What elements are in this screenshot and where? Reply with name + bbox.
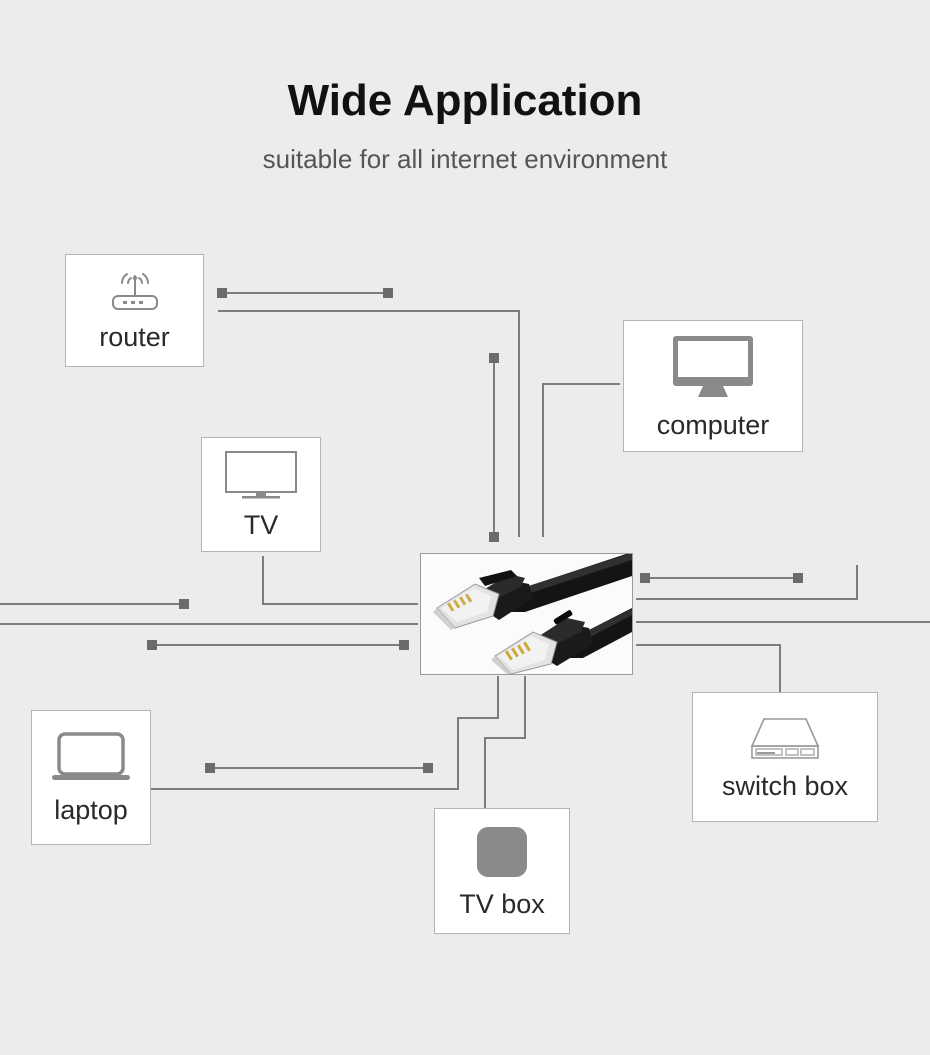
laptop-icon (48, 731, 134, 787)
television-icon (224, 450, 298, 500)
device-label-tvbox: TV box (459, 891, 545, 918)
device-label-laptop: laptop (54, 797, 128, 824)
device-label-tv: TV (244, 512, 279, 539)
line-switch-to-hub (636, 645, 780, 692)
line-tv-to-hub (263, 556, 418, 604)
device-card-laptop[interactable]: laptop (31, 710, 151, 845)
device-card-computer[interactable]: computer (623, 320, 803, 452)
device-card-tvbox[interactable]: TV box (434, 808, 570, 934)
line-computer-to-hub (543, 384, 620, 537)
line-tvbox-to-hub (485, 676, 525, 808)
device-label-computer: computer (657, 412, 770, 439)
device-card-switch[interactable]: switch box (692, 692, 878, 822)
wifi-router-icon (102, 270, 168, 314)
tv-box-icon (475, 825, 529, 879)
device-card-tv[interactable]: TV (201, 437, 321, 552)
device-card-router[interactable]: router (65, 254, 204, 367)
device-label-router: router (99, 324, 170, 351)
network-switch-icon (746, 715, 824, 763)
wide-application-infographic: Wide Application suitable for all intern… (0, 0, 930, 1055)
desktop-monitor-icon (671, 334, 755, 400)
device-label-switch: switch box (722, 773, 848, 800)
line-laptop-to-hub (150, 676, 498, 789)
line-right-up (636, 565, 857, 599)
ethernet-cable-photo (420, 553, 633, 675)
